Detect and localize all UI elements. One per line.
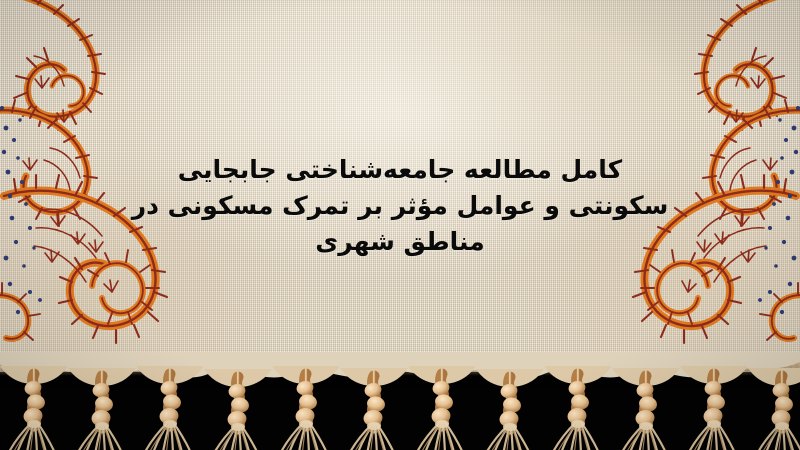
cloth-selvage-edge	[0, 360, 800, 376]
title-card: کامل مطالعه جامعه‌شناختی جابجایی سکونتی …	[0, 0, 800, 450]
title-line-3: مناطق شهری	[0, 224, 800, 260]
title-line-2: سکونتی و عوامل مؤثر بر تمرک مسکونی در	[0, 188, 800, 224]
page-title: کامل مطالعه جامعه‌شناختی جابجایی سکونتی …	[0, 152, 800, 260]
title-line-1: کامل مطالعه جامعه‌شناختی جابجایی	[0, 152, 800, 188]
